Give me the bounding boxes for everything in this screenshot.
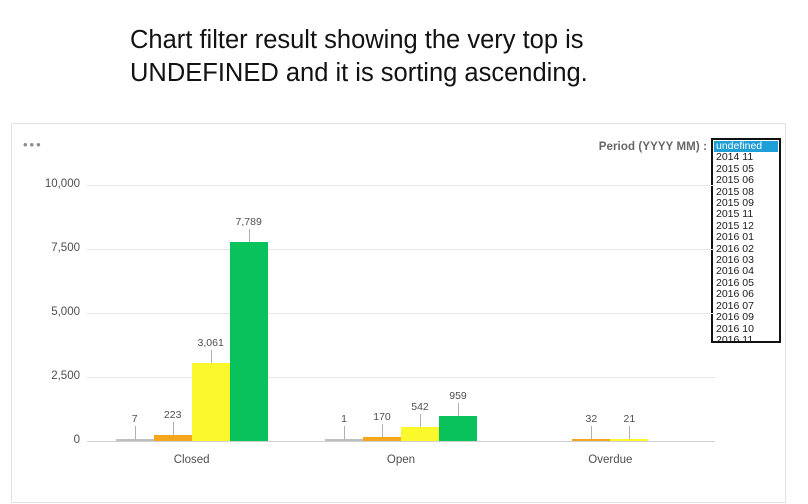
x-axis-tick-label: Open bbox=[387, 454, 415, 466]
chart-bar[interactable] bbox=[401, 427, 439, 441]
chart-bar[interactable] bbox=[230, 242, 268, 441]
data-label-leader bbox=[211, 350, 212, 363]
gridline bbox=[87, 249, 715, 250]
page-title-line-1: Chart filter result showing the very top… bbox=[130, 24, 730, 57]
chart-bar[interactable] bbox=[439, 416, 477, 441]
chart-bar[interactable] bbox=[610, 439, 648, 441]
gridline bbox=[87, 185, 715, 186]
x-axis-tick-label: Closed bbox=[174, 454, 210, 466]
bar-value-label: 32 bbox=[585, 413, 597, 425]
data-label-leader bbox=[173, 422, 174, 435]
bar-value-label: 21 bbox=[623, 413, 635, 425]
data-label-leader bbox=[591, 426, 592, 439]
chart-bar[interactable] bbox=[325, 439, 363, 441]
x-axis-tick-label: Overdue bbox=[588, 454, 632, 466]
chart-bar[interactable] bbox=[363, 437, 401, 441]
y-axis-tick-label: 2,500 bbox=[0, 370, 80, 382]
y-axis-tick-label: 10,000 bbox=[0, 178, 80, 190]
chart-bar[interactable] bbox=[154, 435, 192, 441]
bar-value-label: 959 bbox=[449, 390, 467, 402]
bar-value-label: 542 bbox=[411, 401, 429, 413]
bar-value-label: 170 bbox=[373, 411, 391, 423]
data-label-leader bbox=[249, 229, 250, 242]
chart-bar[interactable] bbox=[116, 439, 154, 441]
data-label-leader bbox=[420, 414, 421, 427]
page-title: Chart filter result showing the very top… bbox=[130, 24, 730, 90]
y-axis-tick-label: 7,500 bbox=[0, 242, 80, 254]
gridline bbox=[87, 377, 715, 378]
chart-card: ••• Period (YYYY MM) : undefined2014 112… bbox=[11, 123, 786, 503]
bar-value-label: 7 bbox=[132, 413, 138, 425]
y-axis-tick-label: 0 bbox=[0, 434, 80, 446]
axis-baseline bbox=[87, 441, 715, 442]
data-label-leader bbox=[344, 426, 345, 439]
page-title-line-2: UNDEFINED and it is sorting ascending. bbox=[130, 57, 730, 90]
chart-bar[interactable] bbox=[572, 439, 610, 441]
chart-bar[interactable] bbox=[192, 363, 230, 441]
bar-value-label: 7,789 bbox=[236, 216, 262, 228]
bar-value-label: 223 bbox=[164, 409, 182, 421]
y-axis-tick-label: 5,000 bbox=[0, 306, 80, 318]
data-label-leader bbox=[382, 424, 383, 437]
data-label-leader bbox=[629, 426, 630, 439]
data-label-leader bbox=[458, 403, 459, 416]
gridline bbox=[87, 313, 715, 314]
bar-value-label: 1 bbox=[341, 413, 347, 425]
bar-value-label: 3,061 bbox=[198, 337, 224, 349]
chart-plot-area: 02,5005,0007,50010,000Closed72233,0617,7… bbox=[12, 124, 787, 504]
data-label-leader bbox=[135, 426, 136, 439]
